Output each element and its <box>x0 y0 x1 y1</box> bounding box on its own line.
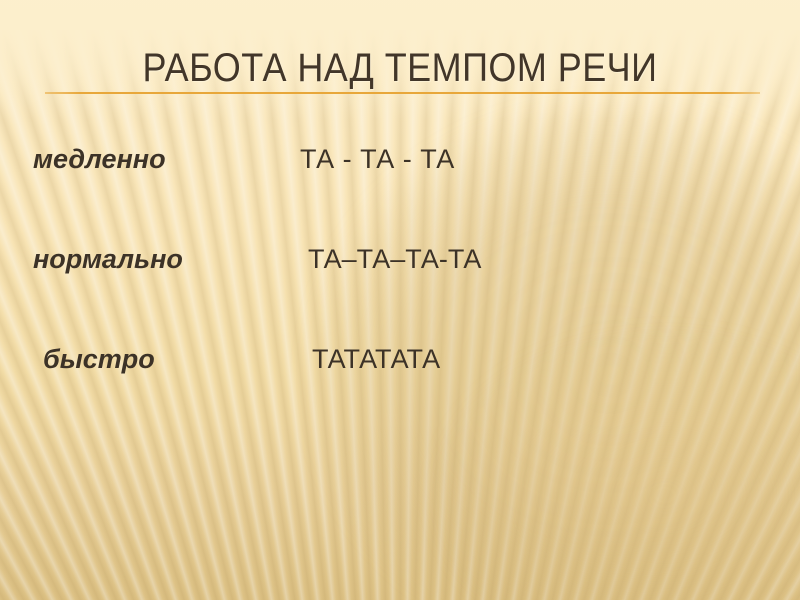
tempo-pattern-slow: ТА - ТА - ТА <box>300 142 455 176</box>
tempo-label-normal: нормально <box>33 242 183 276</box>
tempo-row: нормально ТА–ТА–ТА-ТА <box>0 228 800 328</box>
tempo-list: медленно ТА - ТА - ТА нормально ТА–ТА–ТА… <box>0 128 800 428</box>
title-underline-rule <box>45 92 760 94</box>
tempo-row: медленно ТА - ТА - ТА <box>0 128 800 228</box>
slide-title-block: РАБОТА НАД ТЕМПОМ РЕЧИ <box>0 44 800 100</box>
tempo-row: быстро ТАТАТАТА <box>0 328 800 428</box>
slide: РАБОТА НАД ТЕМПОМ РЕЧИ медленно ТА - ТА … <box>0 0 800 600</box>
tempo-pattern-fast: ТАТАТАТА <box>312 342 440 376</box>
tempo-label-slow: медленно <box>33 142 166 176</box>
slide-title: РАБОТА НАД ТЕМПОМ РЕЧИ <box>40 44 760 92</box>
tempo-label-fast: быстро <box>43 342 155 376</box>
tempo-pattern-normal: ТА–ТА–ТА-ТА <box>308 242 481 276</box>
